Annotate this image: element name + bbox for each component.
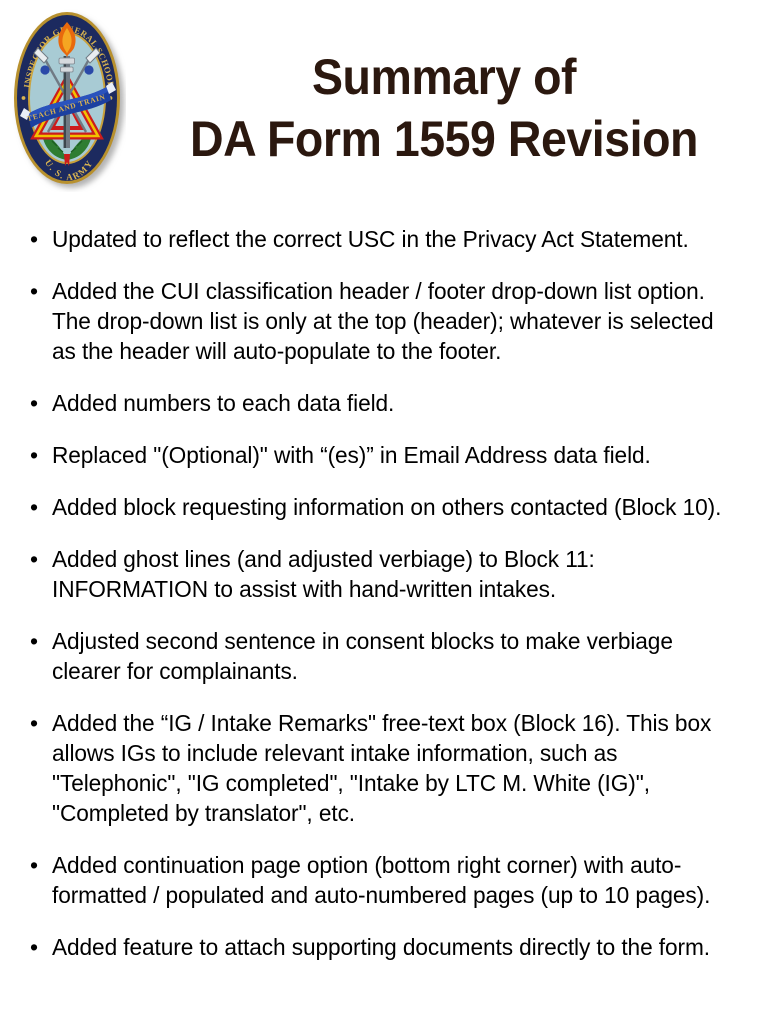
bullet-dot-icon: • [26, 544, 52, 574]
list-item: • Added the “IG / Intake Remarks" free-t… [26, 708, 760, 828]
bullet-text: Added feature to attach supporting docum… [52, 932, 735, 962]
bullet-dot-icon: • [26, 708, 52, 738]
title-line-2: DA Form 1559 Revision [152, 108, 736, 170]
inspector-general-school-seal: INSPECTOR GENERAL SCHOOL U. S. ARMY [12, 8, 126, 192]
bullet-dot-icon: • [26, 224, 52, 254]
bullet-dot-icon: • [26, 492, 52, 522]
list-item: • Added block requesting information on … [26, 492, 760, 522]
list-item: • Adjusted second sentence in consent bl… [26, 626, 760, 686]
bullet-text: Adjusted second sentence in consent bloc… [52, 626, 735, 686]
title-line-1: Summary of [152, 46, 736, 108]
slide-canvas: INSPECTOR GENERAL SCHOOL U. S. ARMY [0, 0, 770, 1024]
bullet-text: Added ghost lines (and adjusted verbiage… [52, 544, 735, 604]
list-item: • Replaced "(Optional)" with “(es)” in E… [26, 440, 760, 470]
list-item: • Updated to reflect the correct USC in … [26, 224, 760, 254]
list-item: • Added continuation page option (bottom… [26, 850, 760, 910]
bullet-text: Added numbers to each data field. [52, 388, 735, 418]
bullet-text: Added the CUI classification header / fo… [52, 276, 735, 366]
bullet-dot-icon: • [26, 276, 52, 306]
bullet-dot-icon: • [26, 388, 52, 418]
list-item: • Added the CUI classification header / … [26, 276, 760, 366]
bullet-text: Added block requesting information on ot… [52, 492, 735, 522]
bullet-list: • Updated to reflect the correct USC in … [26, 224, 760, 962]
bullet-dot-icon: • [26, 850, 52, 880]
bullet-text: Updated to reflect the correct USC in th… [52, 224, 735, 254]
list-item: • Added feature to attach supporting doc… [26, 932, 760, 962]
list-item: • Added ghost lines (and adjusted verbia… [26, 544, 760, 604]
bullet-text: Replaced "(Optional)" with “(es)” in Ema… [52, 440, 735, 470]
page-title: Summary of DA Form 1559 Revision [130, 46, 758, 170]
list-item: • Added numbers to each data field. [26, 388, 760, 418]
bullet-text: Added continuation page option (bottom r… [52, 850, 735, 910]
bullet-dot-icon: • [26, 626, 52, 656]
bullet-dot-icon: • [26, 440, 52, 470]
bullet-dot-icon: • [26, 932, 52, 962]
bullet-text: Added the “IG / Intake Remarks" free-tex… [52, 708, 735, 828]
